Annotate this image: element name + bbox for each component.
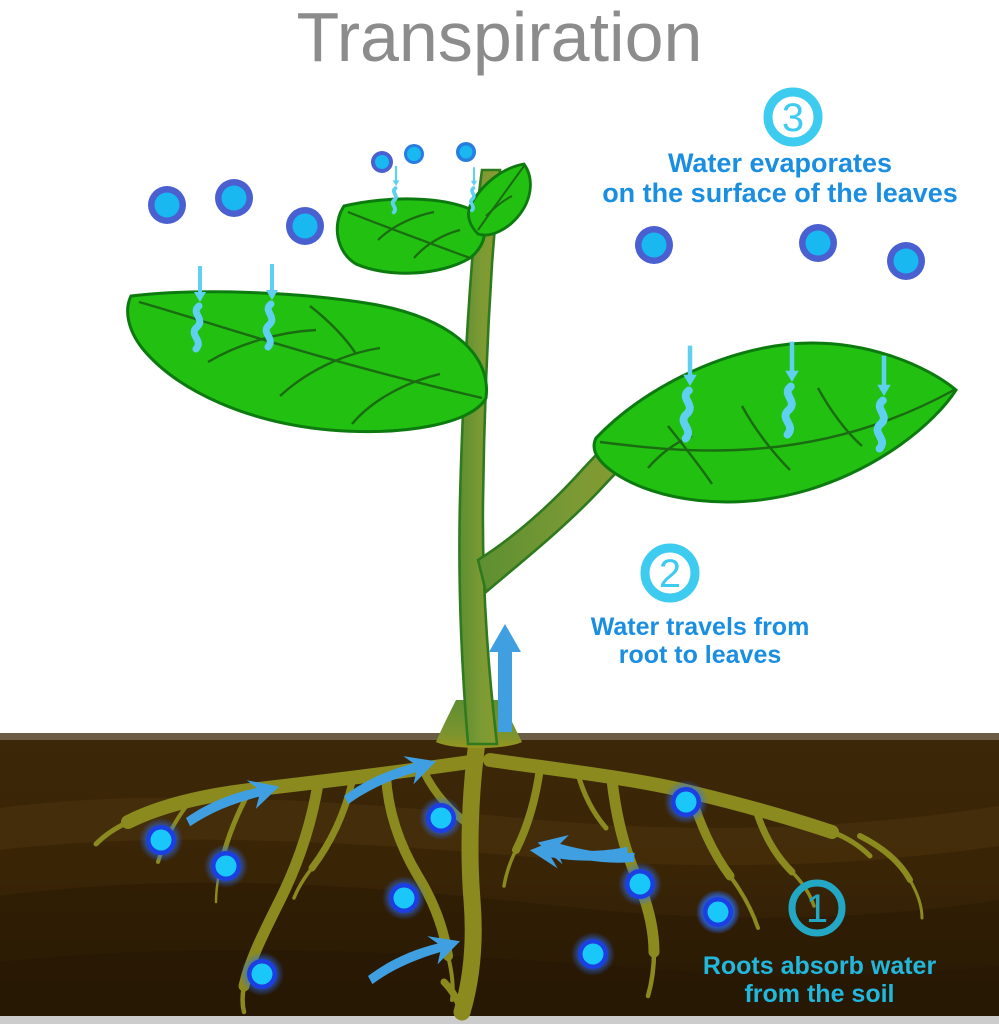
- leaf-upper-left: [337, 199, 484, 273]
- transpiration-diagram: 3 2 1 Transpiration Water evaporates on …: [0, 0, 999, 1024]
- step-badge-3-number: 3: [782, 96, 804, 140]
- step-3-label: Water evaporates on the surface of the l…: [560, 148, 999, 208]
- step-badge-1-number: 1: [806, 887, 828, 931]
- step-badge-2: 2: [645, 548, 695, 598]
- leaf-tip: [468, 164, 530, 235]
- step-2-label: Water travels from root to leaves: [520, 613, 880, 669]
- page-title: Transpiration: [0, 2, 999, 72]
- bottom-strip: [0, 1016, 999, 1024]
- step-badge-2-number: 2: [659, 552, 681, 596]
- leaf-right-large: [594, 343, 956, 502]
- leaf-left-large: [128, 292, 487, 432]
- step-badge-3: 3: [768, 92, 818, 142]
- step-1-label: Roots absorb water from the soil: [640, 952, 999, 1008]
